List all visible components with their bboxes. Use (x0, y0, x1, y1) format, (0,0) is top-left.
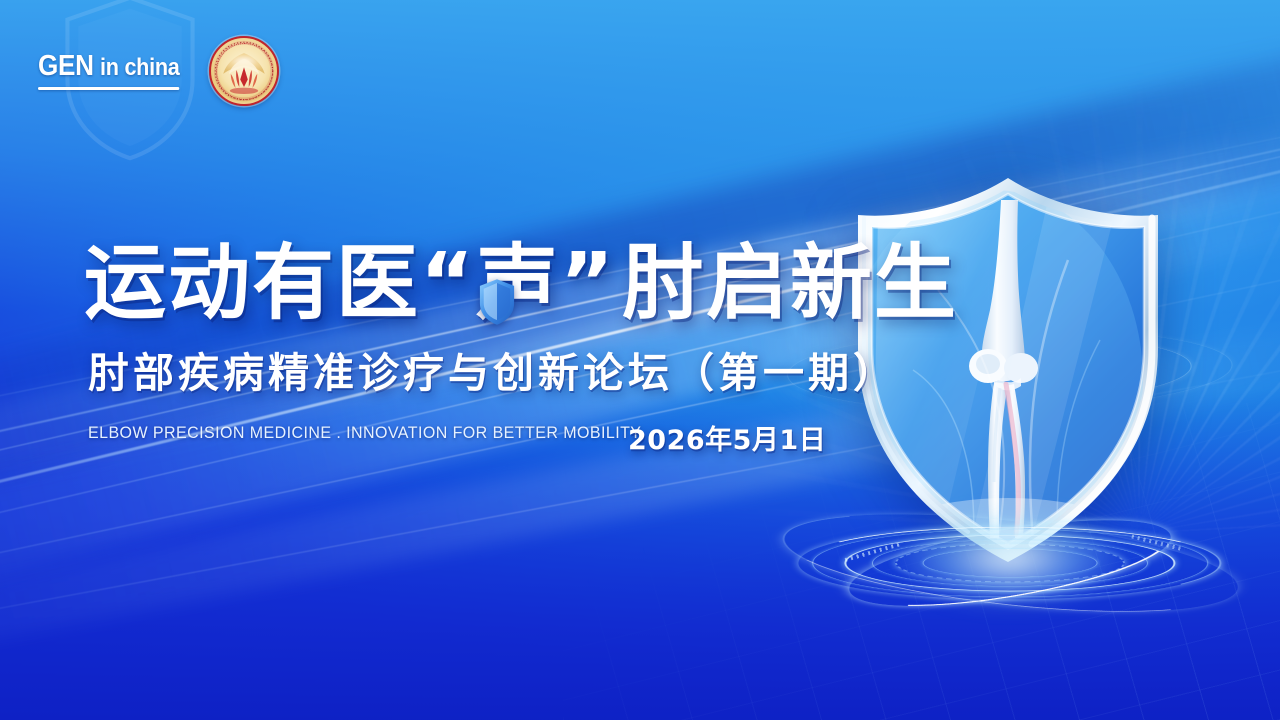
gen-wordmark-main: GEN (38, 50, 94, 82)
headline-part-a: 运动有医 (84, 243, 420, 325)
title-shield-icon (478, 278, 516, 326)
page-title: 运动有医“声”肘启新生 (84, 243, 958, 325)
emblem-artwork (211, 38, 277, 104)
english-tagline: ELBOW PRECISION MEDICINE . INNOVATION FO… (88, 424, 641, 443)
gen-wordmark: GENin china (38, 52, 180, 90)
page-subtitle: 肘部疾病精准诊疗与创新论坛（第一期） (88, 352, 898, 395)
gen-wordmark-underline (38, 87, 180, 90)
china-association-emblem (209, 36, 279, 106)
headline-quote-close: ” (560, 243, 616, 325)
headline-part-b: 肘启新生 (622, 243, 958, 325)
headline-quote-open: “ (420, 243, 476, 325)
event-date: 2026年5月1日 (628, 418, 826, 457)
tech-ring-platform (780, 455, 1240, 670)
brand-logo-row: GENin china (38, 36, 279, 106)
event-banner: GENin china (0, 0, 1280, 720)
gen-wordmark-sub: in china (100, 54, 179, 81)
